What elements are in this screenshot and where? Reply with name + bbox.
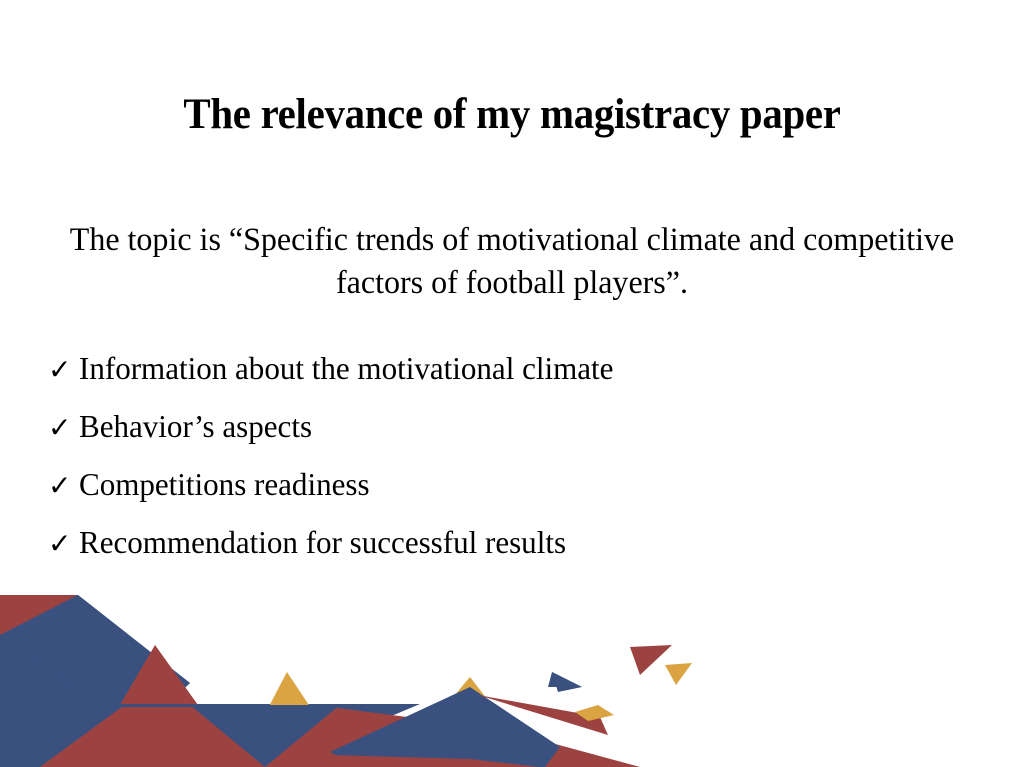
list-item-label: Competitions readiness	[79, 468, 370, 500]
triangle-navy-large-left-b	[0, 595, 190, 732]
list-item: ✓ Information about the motivational cli…	[48, 352, 948, 410]
intro-paragraph: The topic is “Specific trends of motivat…	[56, 219, 968, 305]
list-item: ✓ Competitions readiness	[48, 468, 948, 526]
triangle-red-right-sliver	[300, 755, 540, 767]
mountain-triangles-graphic	[0, 587, 1024, 767]
triangle-navy-large-left	[0, 595, 190, 737]
triangle-gold-fragment-right	[665, 663, 692, 685]
triangle-red-fragment-arrow	[478, 695, 608, 735]
triangle-red-peak-small	[120, 645, 198, 705]
triangle-red-foreground	[40, 707, 640, 767]
bullet-list: ✓ Information about the motivational cli…	[48, 352, 948, 584]
list-item: ✓ Recommendation for successful results	[48, 526, 948, 584]
checkmark-icon: ✓	[48, 472, 79, 500]
triangle-navy-fragment	[552, 672, 582, 692]
triangle-navy-valley	[0, 704, 420, 767]
page-title: The relevance of my magistracy paper	[26, 91, 999, 139]
triangle-navy-right	[330, 687, 560, 767]
list-item: ✓ Behavior’s aspects	[48, 410, 948, 468]
triangle-navy-foreground	[190, 705, 340, 767]
list-item-label: Information about the motivational clima…	[79, 352, 613, 384]
band-gold-bottom-left	[0, 737, 75, 767]
list-item-label: Behavior’s aspects	[79, 410, 312, 442]
diamond-gold-fragment	[575, 705, 614, 721]
list-item-label: Recommendation for successful results	[79, 526, 566, 558]
triangle-red-fragment-upper-right	[630, 645, 672, 675]
checkmark-icon: ✓	[48, 530, 79, 558]
checkmark-icon: ✓	[48, 414, 79, 442]
slide-canvas: The relevance of my magistracy paper The…	[0, 0, 1024, 767]
triangle-navy-fragment-b	[548, 672, 582, 687]
triangle-gold-peak-right	[432, 677, 505, 722]
triangle-red-foreground-b	[40, 707, 330, 767]
triangle-red-far-left	[0, 595, 78, 699]
checkmark-icon: ✓	[48, 356, 79, 384]
triangle-gold-peak-center	[245, 672, 340, 752]
